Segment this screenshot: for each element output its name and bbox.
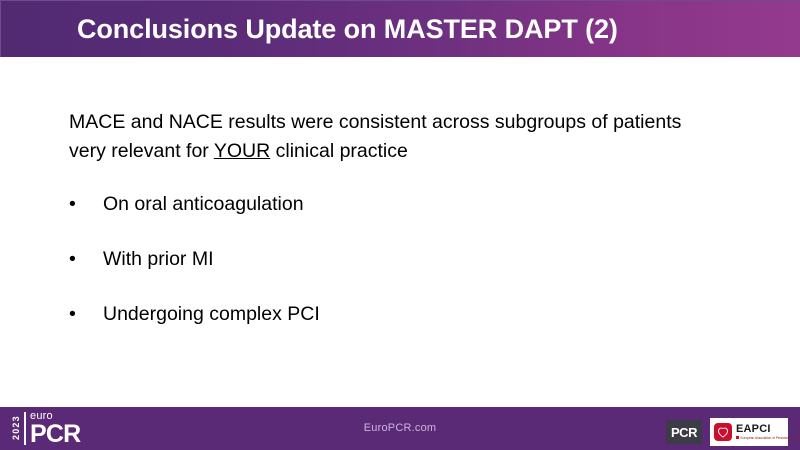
bullet-list: • On oral anticoagulation • With prior M… [69, 192, 729, 357]
lead-paragraph-emphasis: YOUR [214, 140, 270, 162]
list-item: • On oral anticoagulation [69, 192, 729, 247]
list-item-label: On oral anticoagulation [103, 192, 304, 216]
eapci-text: EAPCI European Association of Percutaneo… [736, 424, 800, 441]
slide: Conclusions Update on MASTER DAPT (2) MA… [0, 0, 800, 450]
lead-paragraph: MACE and NACE results were consistent ac… [69, 108, 709, 166]
logo-divider [24, 412, 26, 445]
eapci-subtitle-row: European Association of Percutaneous Car… [736, 435, 800, 441]
europcr-logo: 2023 euro PCR [12, 410, 80, 446]
slide-title-band: Conclusions Update on MASTER DAPT (2) [0, 0, 800, 57]
lead-paragraph-part-2: clinical practice [270, 140, 408, 162]
bullet-point-icon: • [69, 192, 85, 216]
logo-wordmark: euro PCR [30, 411, 80, 445]
slide-body: MACE and NACE results were consistent ac… [0, 57, 800, 407]
pcr-logo-chip: PCR [666, 420, 702, 444]
logo-year-label: 2023 [12, 411, 21, 445]
heart-icon [714, 423, 732, 441]
page-title: Conclusions Update on MASTER DAPT (2) [77, 13, 618, 46]
list-item: • With prior MI [69, 247, 729, 302]
logo-pcr-label: PCR [30, 423, 80, 446]
pcr-chip-label: PCR [671, 426, 697, 439]
eapci-bullet-icon [736, 436, 739, 439]
list-item: • Undergoing complex PCI [69, 302, 729, 357]
list-item-label: With prior MI [103, 247, 214, 271]
bullet-point-icon: • [69, 302, 85, 326]
list-item-label: Undergoing complex PCI [103, 302, 320, 326]
eapci-logo-chip: EAPCI European Association of Percutaneo… [710, 418, 788, 446]
eapci-name-label: EAPCI [736, 424, 800, 435]
eapci-subtitle-label: European Association of Percutaneous Car… [741, 436, 800, 440]
bullet-point-icon: • [69, 247, 85, 271]
